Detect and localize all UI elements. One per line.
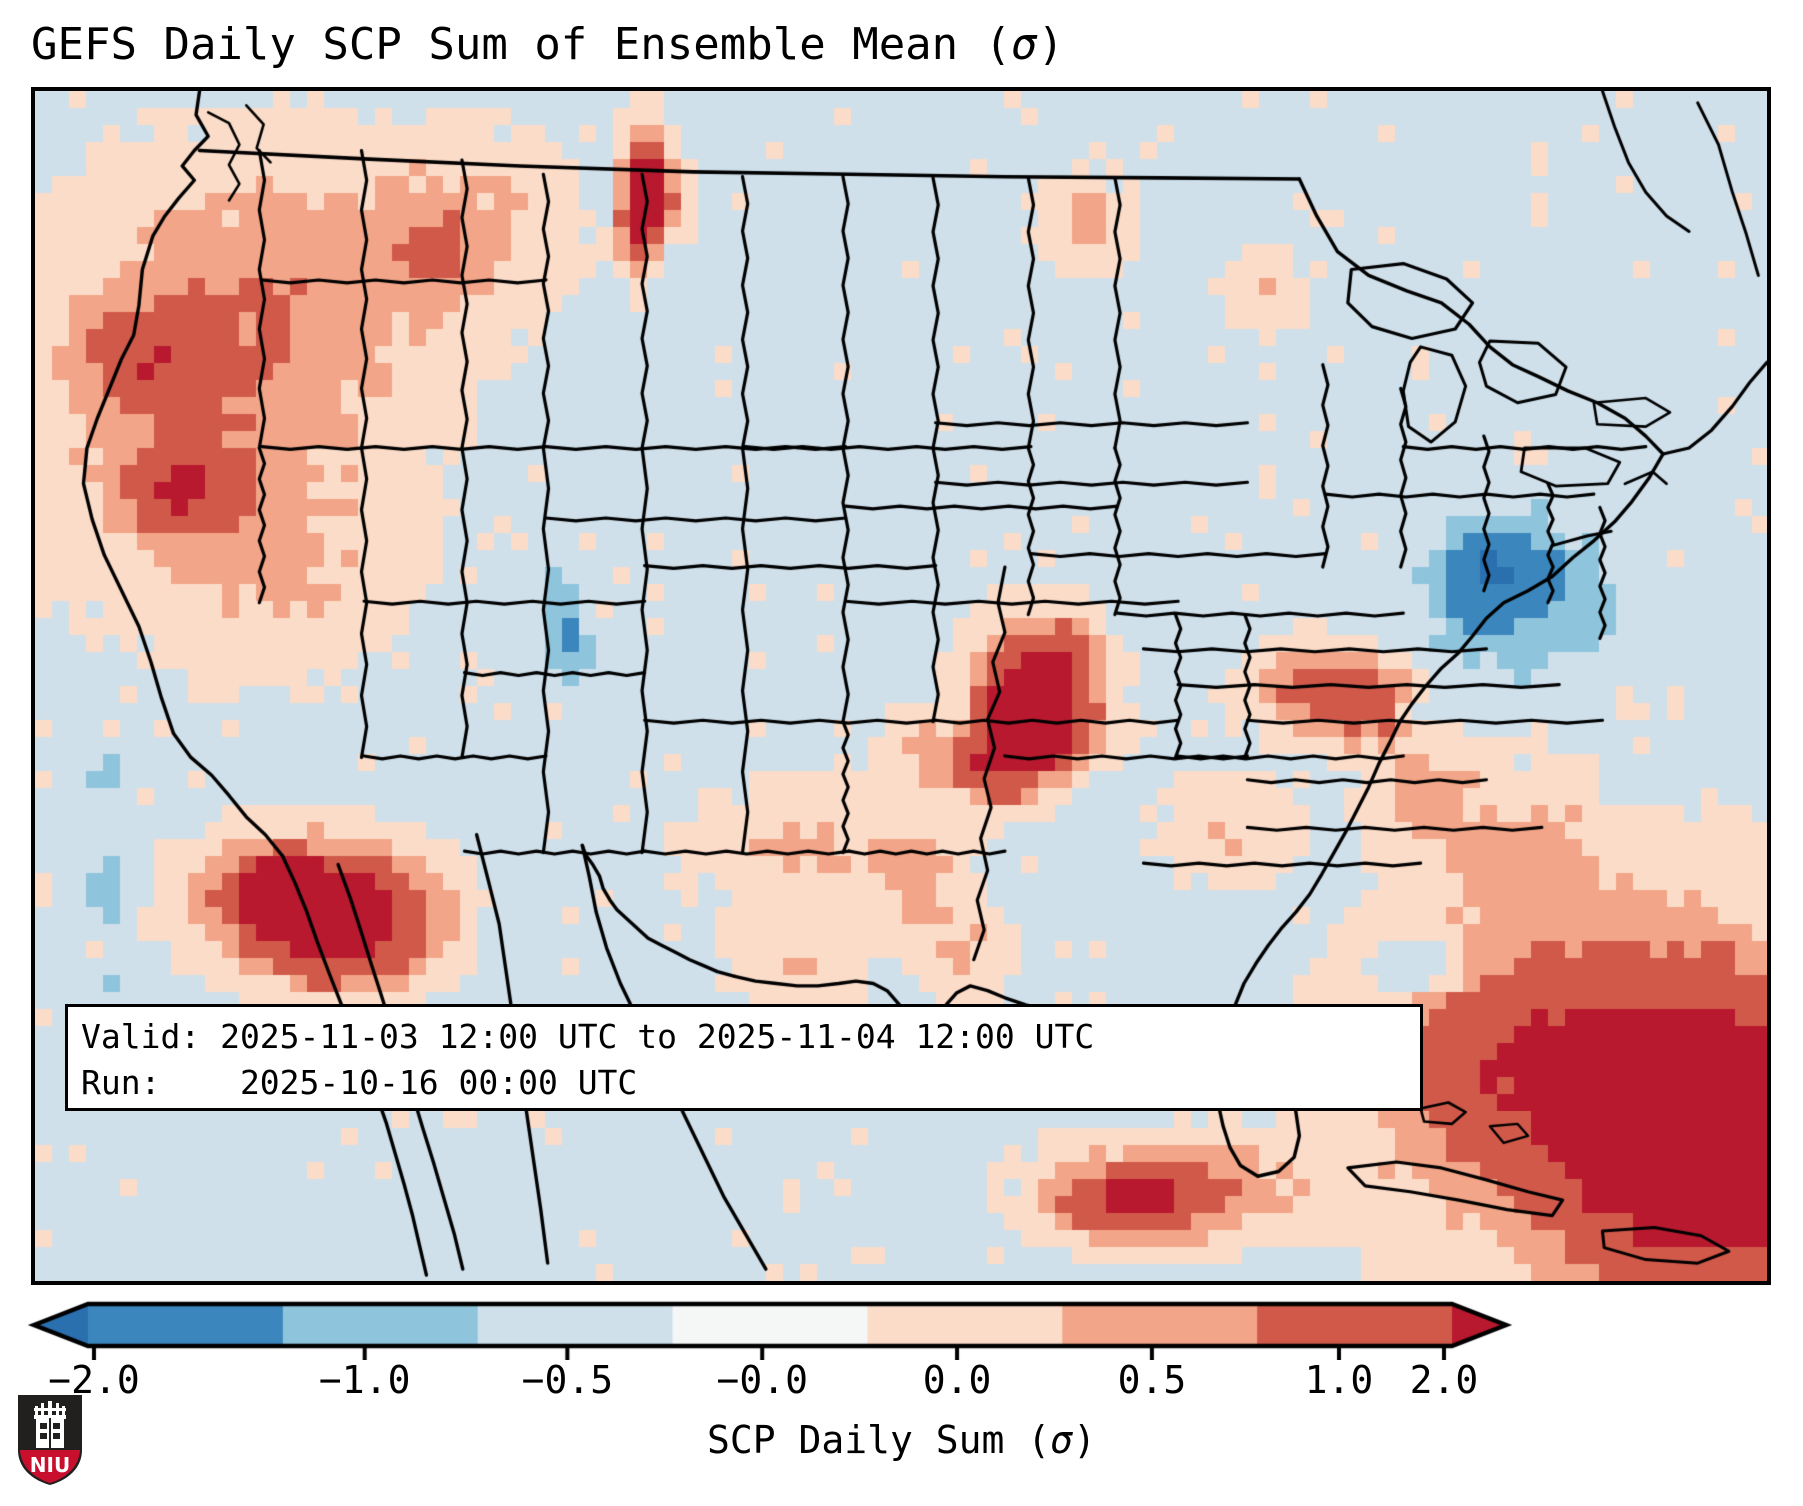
cbar-label-sigma-symbol: σ bbox=[1050, 1418, 1073, 1462]
colorbar-tick-7: 2.0 bbox=[1410, 1352, 1479, 1408]
colorbar-tick-4: 0.0 bbox=[923, 1352, 992, 1408]
colorbar-tick-6: 1.0 bbox=[1305, 1352, 1374, 1408]
colorbar-tick-3: −0.0 bbox=[716, 1352, 808, 1408]
figure-root: GEFS Daily SCP Sum of Ensemble Mean (σ) … bbox=[0, 0, 1803, 1506]
colorbar-area: −2.0−1.0−0.5−0.00.00.51.02.0 SCP Daily S… bbox=[0, 1290, 1803, 1506]
title-prefix: GEFS Daily SCP Sum of Ensemble Mean ( bbox=[31, 19, 1011, 70]
niu-shield-icon: NIU bbox=[14, 1392, 86, 1488]
cbar-label-suffix: ) bbox=[1073, 1418, 1096, 1462]
colorbar-tick-1: −1.0 bbox=[319, 1352, 411, 1408]
map-panel[interactable]: Valid: 2025-11-03 12:00 UTC to 2025-11-0… bbox=[31, 87, 1771, 1285]
title-sigma-symbol: σ bbox=[1011, 19, 1038, 70]
colorbar-tick-2: −0.5 bbox=[522, 1352, 614, 1408]
niu-logo: NIU bbox=[14, 1392, 86, 1488]
colorbar-tick-5: 0.5 bbox=[1118, 1352, 1187, 1408]
niu-logo-text: NIU bbox=[30, 1453, 70, 1477]
valid-run-infobox: Valid: 2025-11-03 12:00 UTC to 2025-11-0… bbox=[65, 1004, 1423, 1111]
cbar-label-prefix: SCP Daily Sum ( bbox=[707, 1418, 1050, 1462]
title-suffix: ) bbox=[1038, 19, 1065, 70]
colorbar-axis-label: SCP Daily Sum (σ) bbox=[0, 1412, 1803, 1468]
colorbar-swatches[interactable] bbox=[0, 1290, 1803, 1360]
infobox-valid-line: Valid: 2025-11-03 12:00 UTC to 2025-11-0… bbox=[81, 1014, 1407, 1060]
infobox-run-line: Run: 2025-10-16 00:00 UTC bbox=[81, 1060, 1407, 1106]
colorbar-tick-labels: −2.0−1.0−0.5−0.00.00.51.02.0 bbox=[0, 1352, 1803, 1408]
page-title: GEFS Daily SCP Sum of Ensemble Mean (σ) bbox=[31, 14, 1771, 76]
